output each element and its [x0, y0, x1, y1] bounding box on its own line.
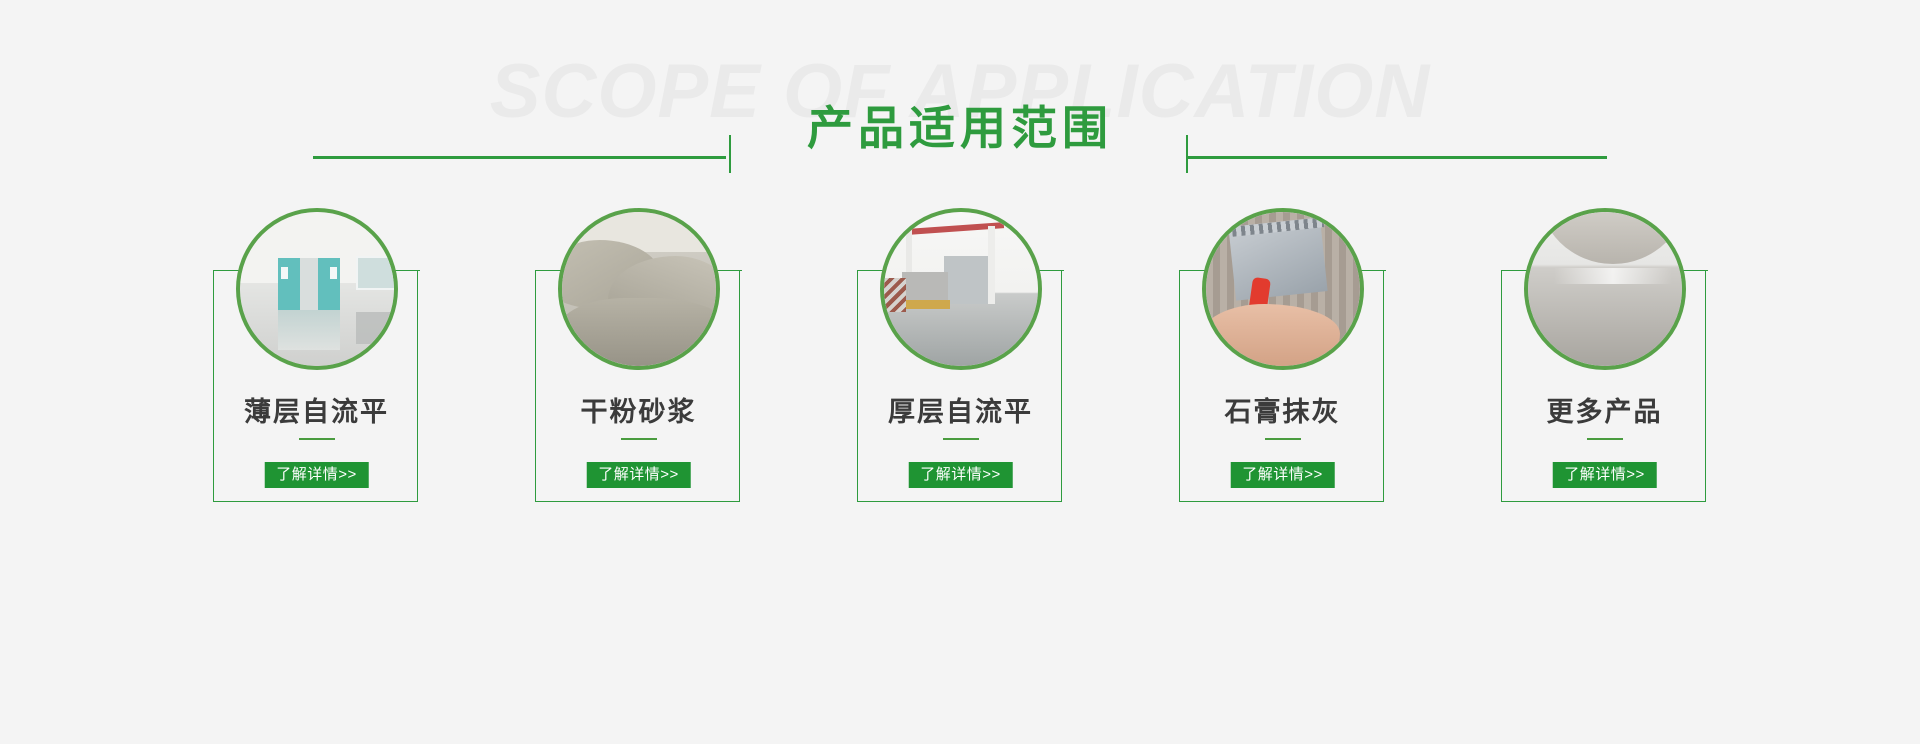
card-divider [943, 438, 979, 440]
card-title: 石膏抹灰 [1179, 390, 1386, 429]
card-gypsum-plaster[interactable]: 石膏抹灰 了解详情>> [1179, 208, 1386, 508]
card-divider [1587, 438, 1623, 440]
card-divider [299, 438, 335, 440]
card-dry-mortar[interactable]: 干粉砂浆 了解详情>> [535, 208, 742, 508]
header-tick-right [1186, 135, 1188, 173]
glossy-floor-closeup-photo[interactable] [1524, 208, 1686, 370]
learn-more-button[interactable]: 了解详情>> [1552, 462, 1657, 488]
section-header: SCOPE OF APPLICATION 产品适用范围 [0, 0, 1920, 200]
learn-more-button[interactable]: 了解详情>> [908, 462, 1013, 488]
header-rule-left [313, 156, 726, 159]
learn-more-button[interactable]: 了解详情>> [586, 462, 691, 488]
dry-powder-mortar-photo[interactable] [558, 208, 720, 370]
card-title: 薄层自流平 [213, 390, 420, 429]
card-more-products[interactable]: 更多产品 了解详情>> [1501, 208, 1708, 508]
industrial-hall-floor-photo[interactable] [880, 208, 1042, 370]
epoxy-floor-corridor-photo[interactable] [236, 208, 398, 370]
learn-more-button[interactable]: 了解详情>> [1230, 462, 1335, 488]
card-title: 干粉砂浆 [535, 390, 742, 429]
page-root: SCOPE OF APPLICATION 产品适用范围 薄层自流平 了解详情>> [0, 0, 1920, 744]
card-thick-self-leveling[interactable]: 厚层自流平 了解详情>> [857, 208, 1064, 508]
card-thin-self-leveling[interactable]: 薄层自流平 了解详情>> [213, 208, 420, 508]
card-divider [621, 438, 657, 440]
card-title: 更多产品 [1501, 390, 1708, 429]
card-title: 厚层自流平 [857, 390, 1064, 429]
learn-more-button[interactable]: 了解详情>> [264, 462, 369, 488]
card-divider [1265, 438, 1301, 440]
header-rule-right [1188, 156, 1607, 159]
application-cards: 薄层自流平 了解详情>> 干粉砂浆 了解详情>> [213, 208, 1708, 528]
notched-trowel-in-hand-photo[interactable] [1202, 208, 1364, 370]
page-title: 产品适用范围 [0, 101, 1920, 156]
